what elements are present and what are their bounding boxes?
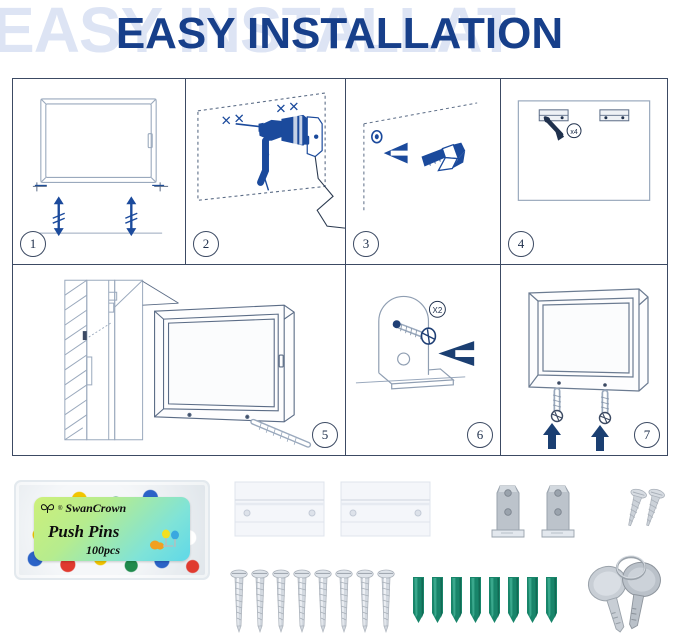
step-badge-4: 4 bbox=[508, 231, 534, 257]
brand-name: SwanCrown bbox=[65, 501, 126, 516]
step-panel-1: 1 bbox=[13, 79, 186, 265]
step-panel-7: 7 bbox=[501, 265, 667, 455]
metal-bracket-1 bbox=[489, 484, 529, 549]
wall-anchor-set bbox=[411, 575, 573, 636]
step-badge-3: 3 bbox=[353, 231, 379, 257]
page-header: EASY INSTALLAT EASY INSTALLATION bbox=[0, 0, 679, 72]
long-screw-set bbox=[230, 568, 405, 641]
step-badge-2: 2 bbox=[193, 231, 219, 257]
product-name: Push Pins bbox=[48, 522, 119, 542]
metal-bracket-2 bbox=[539, 484, 579, 549]
push-pins-box: ® SwanCrown Push Pins 100pcs bbox=[14, 480, 210, 580]
step-panel-3: 3 bbox=[346, 79, 501, 265]
mounting-rail-2 bbox=[337, 480, 434, 547]
step-badge-6: 6 bbox=[467, 422, 493, 448]
push-pins-label: ® SwanCrown Push Pins 100pcs bbox=[34, 497, 190, 561]
pin-illustration-icon bbox=[142, 526, 184, 557]
product-quantity: 100pcs bbox=[86, 543, 120, 558]
step-panel-2: 2 bbox=[186, 79, 346, 265]
trademark-symbol: ® bbox=[58, 506, 62, 512]
step-badge-7: 7 bbox=[634, 422, 660, 448]
installation-steps-grid: 1 bbox=[12, 78, 668, 456]
page-title: EASY INSTALLATION bbox=[0, 8, 679, 60]
key-pair bbox=[581, 554, 673, 643]
step-badge-5: 5 bbox=[312, 422, 338, 448]
parts-showcase: ® SwanCrown Push Pins 100pcs bbox=[0, 462, 679, 640]
step-panel-4: x4 4 bbox=[501, 79, 667, 265]
brand-row: ® SwanCrown bbox=[40, 501, 126, 516]
step-panel-5: 5 bbox=[13, 265, 346, 455]
step-panel-6: X2 6 bbox=[346, 265, 501, 455]
svg-text:x4: x4 bbox=[570, 129, 577, 136]
swan-butterfly-logo-icon bbox=[40, 502, 55, 515]
short-screw-pair bbox=[620, 486, 668, 543]
step-badge-1: 1 bbox=[20, 231, 46, 257]
mounting-rail-1 bbox=[231, 480, 328, 547]
wall-section-hang-frame-icon bbox=[13, 265, 345, 455]
svg-text:X2: X2 bbox=[433, 306, 443, 315]
